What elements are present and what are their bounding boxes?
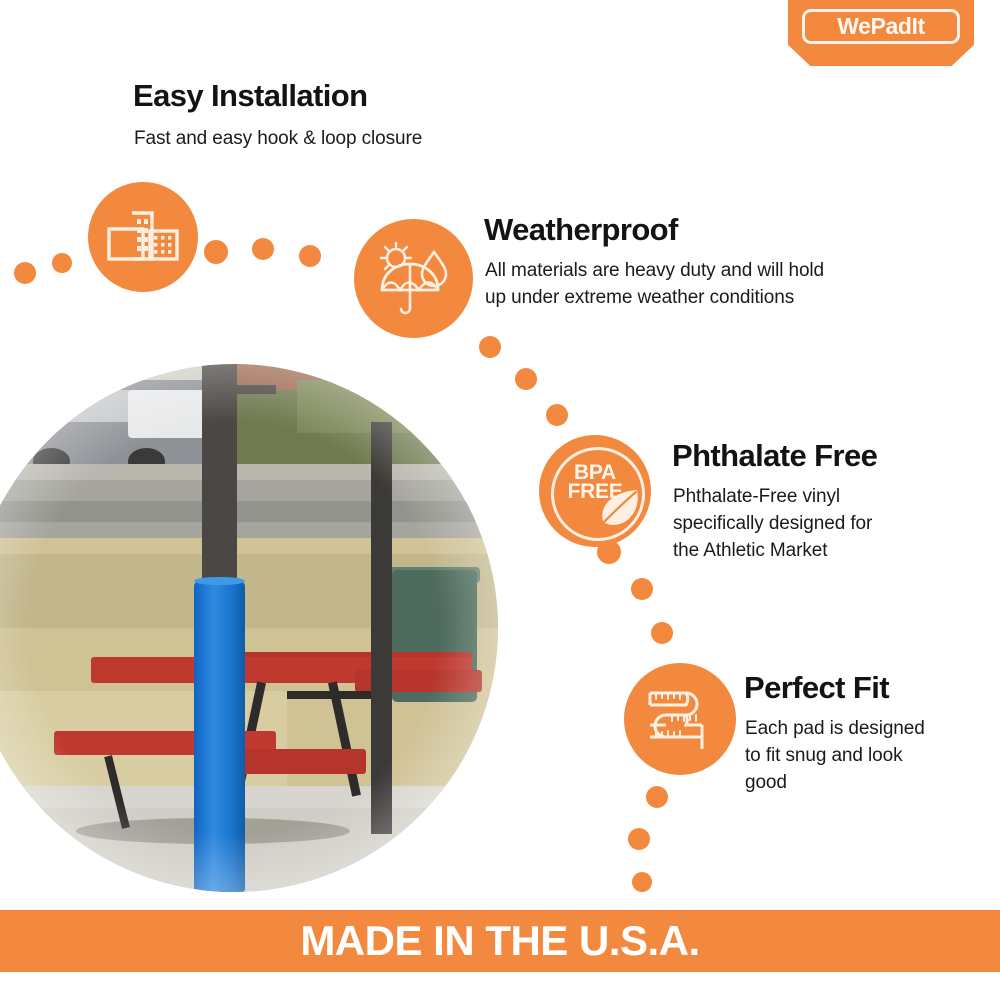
trail-dot [52, 253, 72, 273]
feature-body-line: Fast and easy hook & loop closure [134, 126, 422, 153]
feature-body-perfect-fit: Each pad is designed to fit snug and loo… [745, 716, 925, 797]
trail-dot [204, 240, 228, 264]
feature-title-easy-installation: Easy Installation [133, 80, 367, 113]
trail-dot [597, 540, 621, 564]
made-in-usa-text: MADE IN THE U.S.A. [300, 920, 699, 962]
trail-dot [515, 368, 537, 390]
feature-body-line: to fit snug and look [745, 743, 925, 770]
feature-title-phthalate-free: Phthalate Free [672, 440, 877, 473]
feature-body-line: Phthalate-Free vinyl [673, 484, 872, 511]
logo-border-frame: WePadIt [802, 9, 960, 44]
infographic-page: WePadIt Easy Installation Fast and easy … [0, 0, 1000, 987]
made-in-usa-banner: MADE IN THE U.S.A. [0, 910, 1000, 972]
trail-dot [631, 578, 653, 600]
feature-body-line: Each pad is designed [745, 716, 925, 743]
sun-umbrella-raindrop-icon [354, 219, 473, 338]
feature-body-weatherproof: All materials are heavy duty and will ho… [485, 258, 824, 312]
trail-dot [646, 786, 668, 808]
product-photo [0, 364, 498, 892]
measuring-tape-icon [624, 663, 736, 775]
feature-body-line: the Athletic Market [673, 538, 872, 565]
feature-title-perfect-fit: Perfect Fit [744, 672, 889, 705]
feature-body-line: specifically designed for [673, 511, 872, 538]
logo-text-it: It [912, 13, 925, 39]
feature-body-phthalate-free: Phthalate-Free vinyl specifically design… [673, 484, 872, 565]
logo-text-pad: Pad [871, 13, 912, 39]
feature-body-line: up under extreme weather conditions [485, 285, 824, 312]
feature-title-weatherproof: Weatherproof [484, 214, 678, 247]
building-factory-icon [88, 182, 198, 292]
trail-dot [252, 238, 274, 260]
feature-body-easy-installation: Fast and easy hook & loop closure [134, 126, 422, 153]
trail-dot [651, 622, 673, 644]
trail-dot [299, 245, 321, 267]
trail-dot [628, 828, 650, 850]
logo-text: WePadIt [837, 15, 925, 38]
trail-dot [479, 336, 501, 358]
feature-body-line: All materials are heavy duty and will ho… [485, 258, 824, 285]
bpa-free-leaf-icon: BPA FREE [539, 435, 651, 547]
trail-dot [546, 404, 568, 426]
logo-text-we: We [837, 13, 870, 39]
trail-dot [632, 872, 652, 892]
trail-dot [14, 262, 36, 284]
leaf-shape-icon [597, 487, 643, 529]
feature-body-line: good [745, 770, 925, 797]
brand-logo: WePadIt [788, 0, 974, 66]
